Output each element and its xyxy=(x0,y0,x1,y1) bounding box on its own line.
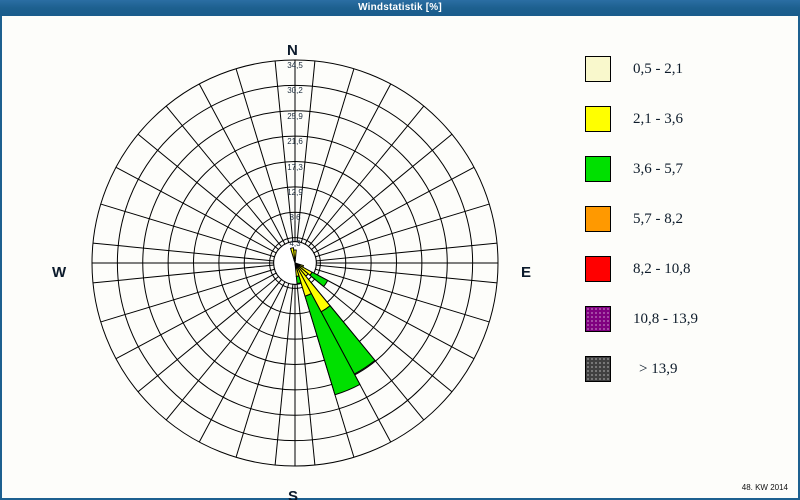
radial-tick-label: 30,2 xyxy=(280,86,310,95)
legend-row: 5,7 - 8,2 xyxy=(585,194,785,244)
windstatistik-window: Windstatistik [%] N E S W 4,38,612,917,3… xyxy=(0,0,800,500)
legend-swatch xyxy=(585,56,611,82)
radial-tick-label: 21,6 xyxy=(280,137,310,146)
radial-tick-label: 34,5 xyxy=(280,61,310,70)
compass-label-south: S xyxy=(288,488,298,500)
legend-swatch xyxy=(585,206,611,232)
legend-label: 10,8 - 13,9 xyxy=(633,311,698,328)
legend-label: 3,6 - 5,7 xyxy=(633,161,683,178)
compass-label-north: N xyxy=(287,42,298,59)
legend-row: 10,8 - 13,9 xyxy=(585,294,785,344)
windrose-petal-segment xyxy=(294,250,297,261)
legend-swatch xyxy=(585,156,611,182)
legend-row: 0,5 - 2,1 xyxy=(585,44,785,94)
legend-label: > 13,9 xyxy=(639,361,677,378)
legend-swatch xyxy=(585,106,611,132)
window-title-bar: Windstatistik [%] xyxy=(0,0,800,16)
radial-tick-label: 4,3 xyxy=(280,239,310,248)
legend-label: 5,7 - 8,2 xyxy=(633,211,683,228)
legend-swatch xyxy=(585,256,611,282)
radial-tick-label: 25,9 xyxy=(280,112,310,121)
legend-row: 3,6 - 5,7 xyxy=(585,144,785,194)
radial-tick-label: 8,6 xyxy=(280,213,310,222)
legend-row: > 13,9 xyxy=(585,344,785,394)
legend-label: 0,5 - 2,1 xyxy=(633,61,683,78)
legend: 0,5 - 2,12,1 - 3,63,6 - 5,75,7 - 8,28,2 … xyxy=(585,44,785,394)
window-title: Windstatistik [%] xyxy=(358,2,442,13)
legend-label: 8,2 - 10,8 xyxy=(633,261,691,278)
radial-tick-label: 17,3 xyxy=(280,163,310,172)
legend-row: 2,1 - 3,6 xyxy=(585,94,785,144)
compass-label-east: E xyxy=(521,264,531,281)
footer-period: 48. KW 2014 xyxy=(742,483,788,492)
legend-label: 2,1 - 3,6 xyxy=(633,111,683,128)
legend-row: 8,2 - 10,8 xyxy=(585,244,785,294)
windrose-chart: N E S W 4,38,612,917,321,625,930,234,5 xyxy=(0,16,560,500)
compass-label-west: W xyxy=(52,264,66,281)
legend-swatch xyxy=(585,356,611,382)
radial-tick-label: 12,9 xyxy=(280,188,310,197)
legend-swatch xyxy=(585,306,611,332)
